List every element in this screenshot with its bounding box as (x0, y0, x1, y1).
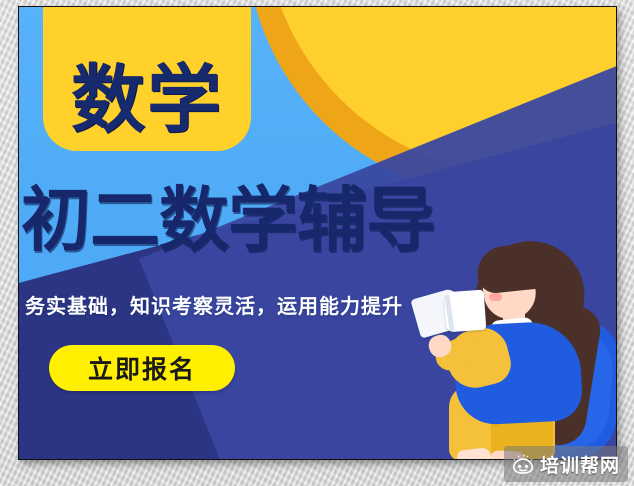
cheek-blush (489, 293, 502, 301)
watermark-text: 培训帮网 (540, 451, 620, 478)
subject-badge-label: 数学 (71, 63, 223, 137)
banner-tagline: 务实基础，知识考察灵活，运用能力提升 (25, 295, 403, 317)
sunburst-face-icon (512, 454, 534, 474)
watermark: 培训帮网 (504, 446, 628, 482)
course-promo-banner: 数学 初二数学辅导 务实基础，知识考 (18, 6, 617, 460)
page-background: 数学 初二数学辅导 务实基础，知识考 (0, 0, 634, 486)
foot-left-shape (456, 447, 491, 460)
enroll-now-button-label: 立即报名 (88, 350, 196, 386)
enroll-now-button[interactable]: 立即报名 (49, 345, 235, 391)
page-title: 初二数学辅导 (21, 185, 541, 255)
girl-reading-book-illustration (411, 235, 616, 460)
subject-badge: 数学 (43, 6, 251, 151)
